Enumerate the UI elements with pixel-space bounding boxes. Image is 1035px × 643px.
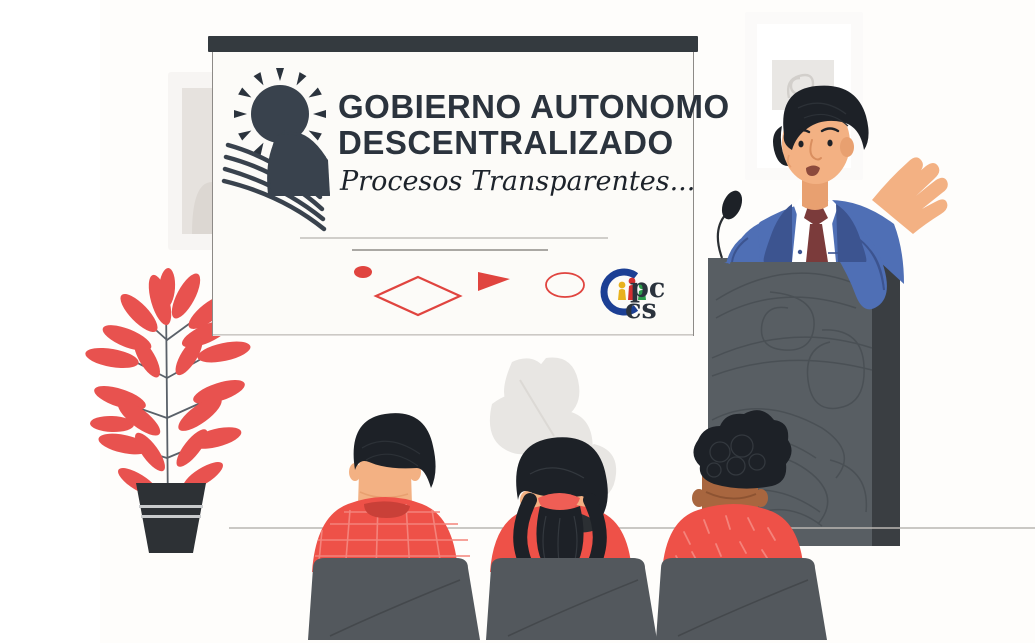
presenter-eye-right xyxy=(827,140,832,147)
presenter-ear xyxy=(840,137,854,157)
screen-heading-line-1: GOBIERNO AUTONOMO xyxy=(338,88,730,125)
illustration-canvas: GOBIERNO AUTONOMO DESCENTRALIZADO Proces… xyxy=(0,0,1035,643)
projection-screen[interactable]: GOBIERNO AUTONOMO DESCENTRALIZADO Proces… xyxy=(208,36,730,336)
screen-bottom-line xyxy=(213,334,693,336)
audience-left-chair xyxy=(308,558,480,640)
screen-header-bar xyxy=(208,36,698,52)
cpccs-text-bottom: cs xyxy=(625,294,657,325)
presentation-illustration: GOBIERNO AUTONOMO DESCENTRALIZADO Proces… xyxy=(0,0,1035,643)
audience-center-chair xyxy=(486,558,657,640)
presenter-eye-left xyxy=(798,141,803,148)
screen-tagline: Procesos Transparentes... xyxy=(339,166,695,197)
red-filled-ellipse xyxy=(354,266,372,278)
audience-right-chair xyxy=(656,558,827,640)
screen-heading-line-2: DESCENTRALIZADO xyxy=(338,124,674,161)
